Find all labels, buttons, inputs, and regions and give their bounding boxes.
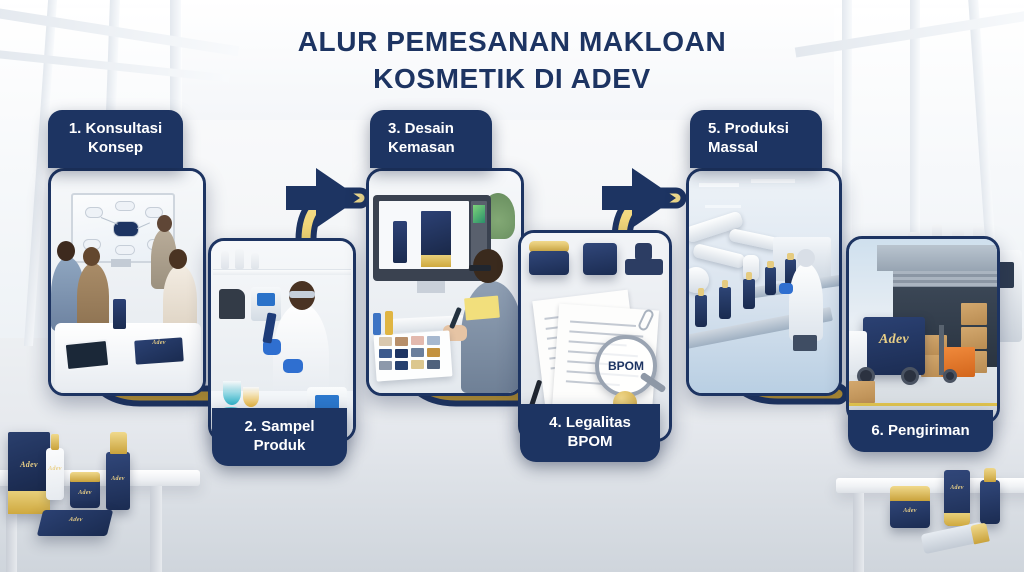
worker-glove [779,283,793,294]
color-swatch [411,336,424,345]
lab-bottle [235,249,244,269]
forklift-wheel [943,369,957,383]
color-swatch [395,337,408,346]
navy-jar [583,243,617,275]
scene-mass-production [689,171,839,393]
product-on-line [719,287,731,319]
worker-head [797,249,815,267]
step-5-label-line2: Massal [708,139,789,158]
color-swatch [395,349,408,358]
person-client [77,263,109,329]
step-3-label-line1: 3. Desain [388,120,455,139]
magnifier-label: BPOM [608,359,644,373]
ceiling-light [699,183,739,187]
delivery-truck-body: Adev [863,317,925,375]
step-4-label-line1: 4. Legalitas [549,414,631,433]
warehouse-roof [877,245,997,271]
truck-wheel [901,367,919,385]
flask [243,387,259,407]
gold-jar [529,251,569,275]
stamp-handle [635,243,652,261]
product-on-line [695,295,707,327]
scene-packaging-design [369,171,521,393]
step-3-photo [366,168,524,396]
truck-brand: Adev [863,332,925,348]
scene-consultation: Adev [51,171,203,393]
step-3-label[interactable]: 3. Desain Kemasan [370,110,492,168]
step-4-label-line2: BPOM [549,433,631,452]
color-swatch [379,361,392,370]
step-1-label-line2: Konsep [69,139,162,158]
step-5-label-text: 5. Produksi Massal [708,120,789,158]
color-swatch [427,336,440,345]
sticky-note [464,296,500,321]
color-swatch [411,360,424,369]
floor-line [849,403,997,406]
product-brand: Adev [135,340,183,346]
factory-worker [789,263,823,341]
rubber-stamp [625,259,663,275]
color-swatch [411,348,424,357]
scene-shipping: Adev [849,239,997,421]
step-2-label-line2: Produk [244,437,314,456]
flask [223,381,241,405]
step-1-label-line1: 1. Konsultasi [69,120,162,139]
color-swatch [379,337,392,346]
ground-box [849,381,875,403]
person-head [157,215,172,232]
ceiling-light [751,179,795,183]
infographic-canvas: Adev Adev Adev Adev Adev Adev [0,0,1024,572]
flow-arrow-2 [602,168,676,228]
glove-hand [283,359,303,373]
step-6-label-line1: 6. Pengiriman [871,422,969,441]
step-6-label[interactable]: 6. Pengiriman [848,410,993,452]
marker-pen [385,311,393,335]
mockup-bottle [393,221,407,263]
product-on-line [765,267,776,295]
mockup-gold-band [421,255,451,267]
eyeglasses [469,265,491,271]
step-1-label[interactable]: 1. Konsultasi Konsep [48,110,183,168]
safety-goggles [289,291,315,298]
step-5-photo [686,168,842,396]
microscope [219,289,245,319]
step-2-label-text: 2. Sampel Produk [244,418,314,456]
pallet-boxes [961,327,987,349]
ceiling-light [705,205,741,208]
tablet-device [64,339,111,371]
step-5-label-line1: 5. Produksi [708,120,789,139]
diagram-node [115,201,135,211]
step-4-label[interactable]: 4. Legalitas BPOM [520,404,660,462]
product-on-line [743,279,755,309]
step-2-label-line1: 2. Sampel [244,418,314,437]
color-picker-swatch [473,205,485,223]
factory-boot [793,335,817,351]
pallet-boxes [961,303,987,325]
analyzer-screen [257,293,275,306]
person-head [57,241,75,261]
lab-bottle [221,251,229,269]
forklift-mast [939,325,944,375]
marker-pen [373,313,381,335]
step-1-label-text: 1. Konsultasi Konsep [69,120,162,158]
step-6-label-text: 6. Pengiriman [871,422,969,441]
color-swatch [379,349,392,358]
step-4-label-text: 4. Legalitas BPOM [549,414,631,452]
lab-bottle [251,253,259,269]
person-head [83,247,100,266]
product-sample-on-table [113,299,126,329]
person-head [169,249,187,269]
flow-arrow-1 [286,168,360,228]
step-5-label[interactable]: 5. Produksi Massal [690,110,822,168]
diagram-wire [101,217,118,225]
door-shutter [893,271,997,287]
step-3-label-text: 3. Desain Kemasan [388,120,455,158]
monitor-stand [417,281,445,293]
step-3-label-line2: Kemasan [388,139,455,158]
step-2-label[interactable]: 2. Sampel Produk [212,408,347,466]
step-1-photo: Adev [48,168,206,396]
screen-stand [111,259,131,267]
diagram-node [115,245,135,255]
color-swatch [427,348,440,357]
lab-shelf [213,269,351,275]
step-6-photo: Adev [846,236,1000,424]
color-swatch [395,361,408,370]
magnifier-bpom: BPOM [595,335,657,397]
doc-line [570,320,636,326]
color-swatch [427,360,440,369]
